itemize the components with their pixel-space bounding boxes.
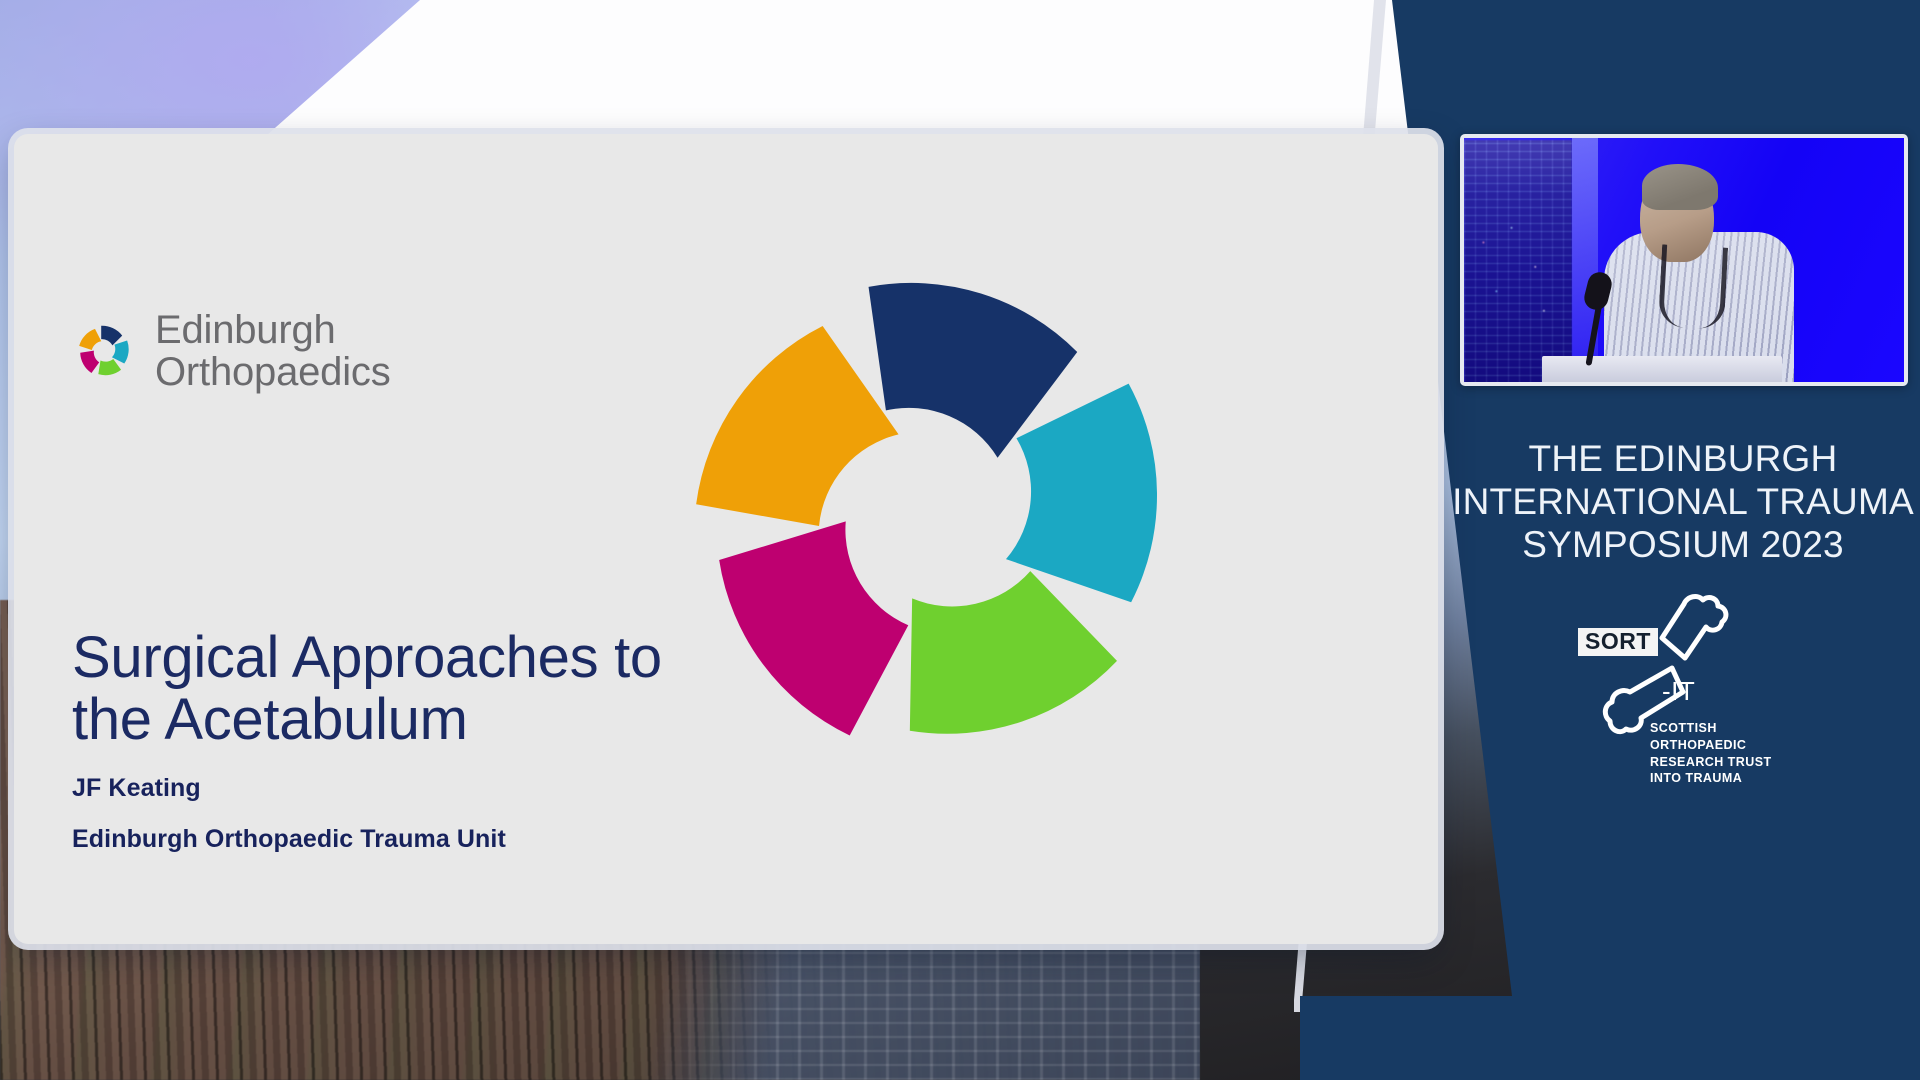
sort-it-logo: SORT -IT SCOTTISH ORTHOPAEDIC RESEARCH T… bbox=[1578, 596, 1808, 786]
wordmark-line-1: Edinburgh bbox=[155, 309, 391, 351]
sort-it-subtitle-line-1: SCOTTISH bbox=[1650, 720, 1772, 737]
video-speaker-lanyard bbox=[1658, 244, 1728, 329]
sort-it-subtitle-line-3: RESEARCH TRUST bbox=[1650, 754, 1772, 771]
it-label: -IT bbox=[1662, 676, 1695, 707]
sort-label-box: SORT bbox=[1578, 628, 1658, 656]
speaker-video-thumbnail[interactable] bbox=[1460, 134, 1908, 386]
sort-it-subtitle-line-4: INTO TRAUMA bbox=[1650, 770, 1772, 787]
slide-affiliation: Edinburgh Orthopaedic Trauma Unit bbox=[72, 825, 972, 854]
edinburgh-orthopaedics-wordmark: Edinburgh Orthopaedics bbox=[155, 309, 391, 394]
video-speaker-hair bbox=[1642, 164, 1718, 210]
symposium-title-line-1: THE EDINBURGH bbox=[1448, 438, 1918, 481]
video-frame[interactable] bbox=[1464, 138, 1904, 382]
video-podium bbox=[1542, 356, 1782, 382]
video-cityscape-screen bbox=[1464, 140, 1572, 382]
symposium-title-line-2: INTERNATIONAL TRAUMA bbox=[1448, 481, 1918, 524]
slide-card[interactable]: Edinburgh Orthopaedics bbox=[14, 134, 1438, 944]
sort-it-subtitle-line-2: ORTHOPAEDIC bbox=[1650, 737, 1772, 754]
symposium-title: THE EDINBURGH INTERNATIONAL TRAUMA SYMPO… bbox=[1448, 438, 1918, 567]
pinwheel-mark-icon bbox=[69, 316, 139, 386]
presentation-screenshot: Edinburgh Orthopaedics bbox=[0, 0, 1920, 1080]
slide-author: JF Keating bbox=[72, 774, 972, 803]
edinburgh-orthopaedics-logo: Edinburgh Orthopaedics bbox=[69, 309, 391, 394]
sort-it-subtitle: SCOTTISH ORTHOPAEDIC RESEARCH TRUST INTO… bbox=[1650, 720, 1772, 787]
wordmark-line-2: Orthopaedics bbox=[155, 351, 391, 393]
title-block: Surgical Approaches to the Acetabulum JF… bbox=[72, 627, 972, 854]
symposium-title-line-3: SYMPOSIUM 2023 bbox=[1448, 524, 1918, 567]
slide-title: Surgical Approaches to the Acetabulum bbox=[72, 627, 732, 752]
